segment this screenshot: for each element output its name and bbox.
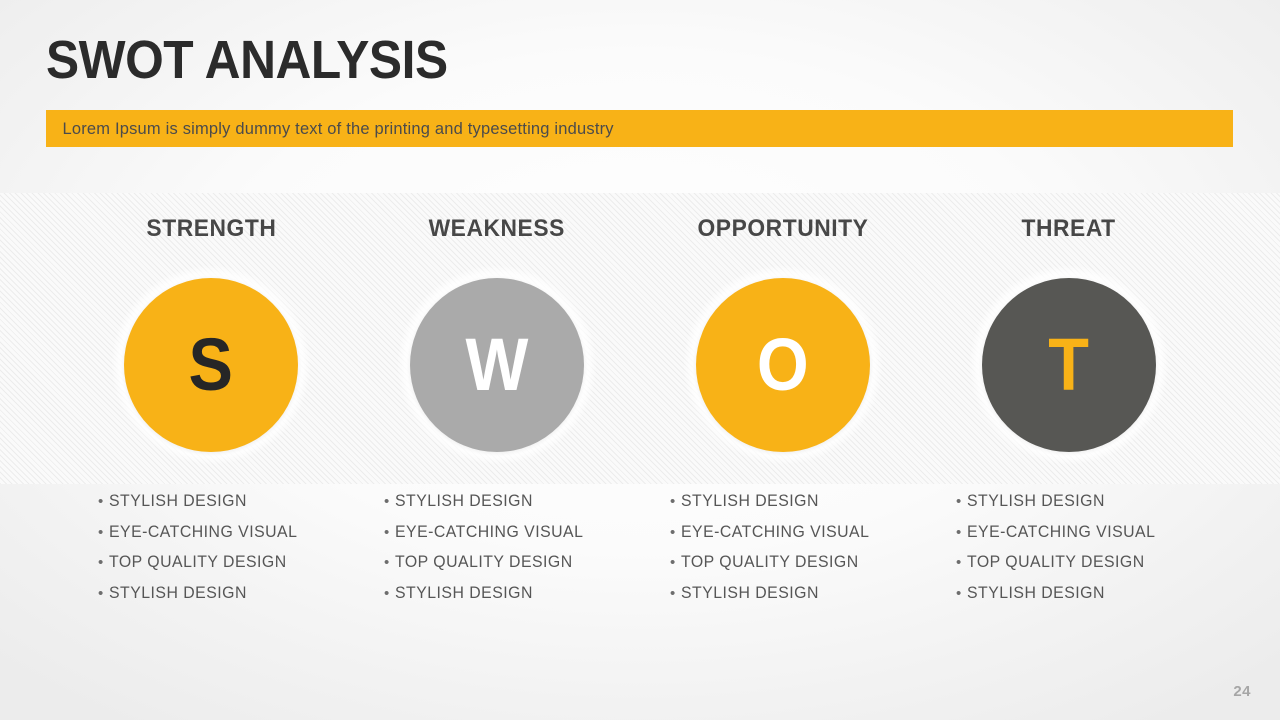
quadrant-heading-strength: STRENGTH [146,215,276,243]
bullet-dot-icon: • [384,525,395,540]
quadrant-heading-weakness: WEAKNESS [429,215,565,243]
quadrant-bullet-lists: •STYLISH DESIGN•EYE-CATCHING VISUAL•TOP … [0,492,1280,614]
swot-analysis-slide: SWOT ANALYSIS Lorem Ipsum is simply dumm… [0,0,1280,720]
list-item-label: STYLISH DESIGN [109,584,247,603]
bullet-dot-icon: • [384,586,395,601]
list-item-label: STYLISH DESIGN [967,492,1105,511]
bullet-list-opportunity: •STYLISH DESIGN•EYE-CATCHING VISUAL•TOP … [640,492,926,614]
bullet-list-strength: •STYLISH DESIGN•EYE-CATCHING VISUAL•TOP … [68,492,354,614]
bullet-dot-icon: • [384,555,395,570]
list-item-label: EYE-CATCHING VISUAL [967,523,1155,542]
list-item: •EYE-CATCHING VISUAL [98,523,354,554]
circle-opportunity[interactable]: O [696,278,870,452]
quadrant-heading-opportunity: OPPORTUNITY [698,215,869,243]
list-item: •STYLISH DESIGN [384,584,640,615]
circle-letter-o: O [757,328,809,402]
list-item: •TOP QUALITY DESIGN [956,553,1212,584]
list-item-label: STYLISH DESIGN [681,584,819,603]
circle-halo-opportunity: O [683,265,883,465]
circle-threat[interactable]: T [982,278,1156,452]
circle-letter-w: W [466,328,529,402]
list-item-label: STYLISH DESIGN [395,492,533,511]
list-item-label: TOP QUALITY DESIGN [681,553,859,572]
list-item-label: EYE-CATCHING VISUAL [395,523,583,542]
bullet-dot-icon: • [384,494,395,509]
list-item: •TOP QUALITY DESIGN [384,553,640,584]
circle-halo-strength: S [111,265,311,465]
circle-halo-weakness: W [397,265,597,465]
subtitle-banner: Lorem Ipsum is simply dummy text of the … [46,110,1233,147]
page-title: SWOT ANALYSIS [46,33,448,87]
list-item-label: EYE-CATCHING VISUAL [109,523,297,542]
bullet-list-weakness: •STYLISH DESIGN•EYE-CATCHING VISUAL•TOP … [354,492,640,614]
bullet-dot-icon: • [670,525,681,540]
bullet-dot-icon: • [956,555,967,570]
bullet-dot-icon: • [98,555,109,570]
bullet-dot-icon: • [956,494,967,509]
list-item: •STYLISH DESIGN [384,492,640,523]
list-item: •TOP QUALITY DESIGN [670,553,926,584]
list-item-label: STYLISH DESIGN [681,492,819,511]
quadrant-header-row: STRENGTH S WEAKNESS W OPPORTUNITY O [0,193,1280,484]
circle-halo-threat: T [969,265,1169,465]
list-item-label: TOP QUALITY DESIGN [395,553,573,572]
list-item-label: TOP QUALITY DESIGN [109,553,287,572]
quadrant-opportunity[interactable]: OPPORTUNITY O [640,193,926,484]
bullet-dot-icon: • [670,586,681,601]
bullet-dot-icon: • [98,525,109,540]
list-item: •STYLISH DESIGN [98,492,354,523]
list-item: •TOP QUALITY DESIGN [98,553,354,584]
circle-strength[interactable]: S [124,278,298,452]
list-item-label: STYLISH DESIGN [967,584,1105,603]
list-item: •STYLISH DESIGN [670,492,926,523]
list-item: •STYLISH DESIGN [956,492,1212,523]
list-item: •EYE-CATCHING VISUAL [384,523,640,554]
bullet-list-threat: •STYLISH DESIGN•EYE-CATCHING VISUAL•TOP … [926,492,1212,614]
bullet-dot-icon: • [956,586,967,601]
list-item-label: STYLISH DESIGN [395,584,533,603]
circle-letter-s: S [189,328,233,402]
list-item: •EYE-CATCHING VISUAL [956,523,1212,554]
quadrant-strength[interactable]: STRENGTH S [68,193,354,484]
bullet-dot-icon: • [98,586,109,601]
quadrant-threat[interactable]: THREAT T [926,193,1212,484]
list-item-label: TOP QUALITY DESIGN [967,553,1145,572]
bullet-dot-icon: • [956,525,967,540]
page-number: 24 [1233,683,1251,700]
circle-letter-t: T [1049,328,1090,402]
list-item: •STYLISH DESIGN [98,584,354,615]
bullet-dot-icon: • [670,555,681,570]
quadrant-weakness[interactable]: WEAKNESS W [354,193,640,484]
quadrant-heading-threat: THREAT [1022,215,1116,243]
list-item-label: EYE-CATCHING VISUAL [681,523,869,542]
subtitle-text: Lorem Ipsum is simply dummy text of the … [46,119,614,139]
list-item: •STYLISH DESIGN [670,584,926,615]
bullet-dot-icon: • [98,494,109,509]
list-item: •STYLISH DESIGN [956,584,1212,615]
list-item-label: STYLISH DESIGN [109,492,247,511]
circle-weakness[interactable]: W [410,278,584,452]
bullet-dot-icon: • [670,494,681,509]
list-item: •EYE-CATCHING VISUAL [670,523,926,554]
